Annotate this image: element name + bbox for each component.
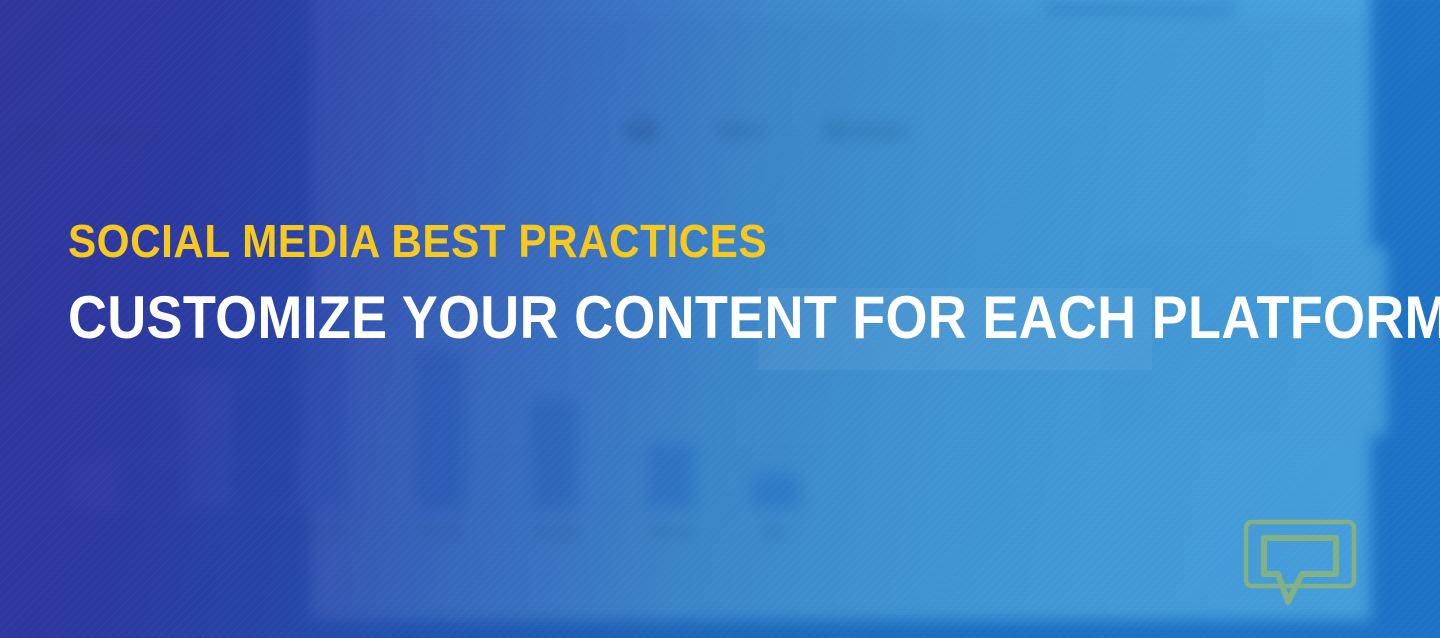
banner-headline: Customize Your Content for Each Platform: [68, 284, 1193, 352]
social-media-banner: Content Activity Audience Age Range i Al…: [0, 0, 1440, 638]
speech-bubble-logo: [1242, 518, 1358, 606]
banner-kicker: Social Media Best Practices: [68, 214, 1218, 268]
banner-copy: Social Media Best Practices Customize Yo…: [68, 214, 1318, 352]
